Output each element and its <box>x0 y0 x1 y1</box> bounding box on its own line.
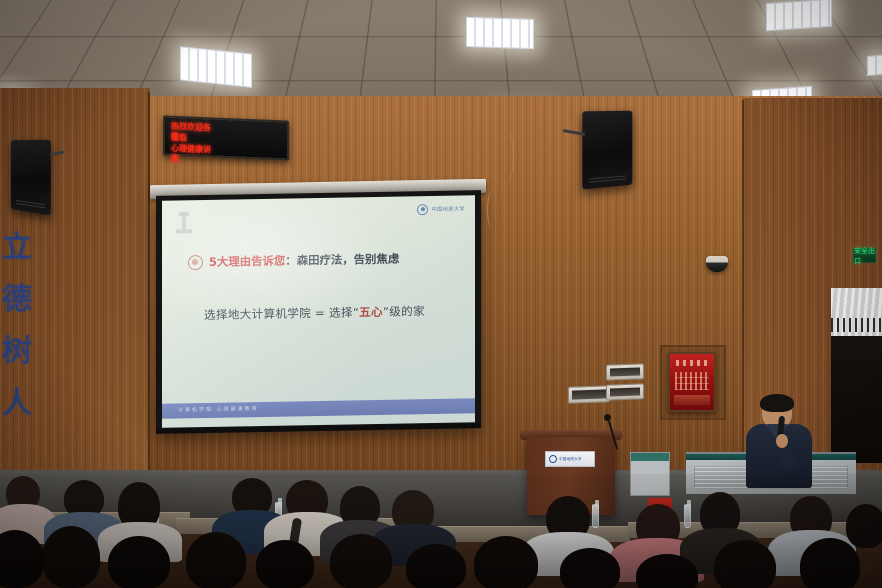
wall-calligraphy: 立德树人 <box>0 222 38 430</box>
av-wall-panel-3[interactable] <box>606 383 644 400</box>
led-scrolling-sign: 热烈欢迎各位 莅临 心理健康讲座 <box>163 115 289 160</box>
slide-canvas: 中国地质大学 5大理由告诉您：森田疗法，告别焦虑 选择地大计算机学院 = 选择“… <box>162 195 475 427</box>
presenter-hand <box>776 434 788 448</box>
lamp-decoration-icon <box>176 212 192 234</box>
slide-title-highlight-middle: 告诉您 <box>251 254 285 269</box>
audience-shadow-overlay <box>0 474 882 588</box>
wall-seam-left <box>148 92 150 518</box>
red-poster <box>668 352 716 412</box>
slide-subtitle-pre: 选择地大计算机学院 = 选择“ <box>204 305 359 322</box>
university-logo: 中国地质大学 <box>417 203 465 215</box>
screen-power-cable <box>487 190 499 230</box>
doorway[interactable] <box>828 288 882 463</box>
slide-subtitle-highlight: 五心 <box>359 305 383 319</box>
ceiling-light-9 <box>867 54 882 76</box>
exit-sign-label: 安全出口 <box>854 246 875 266</box>
university-emblem-icon <box>417 204 428 215</box>
podium-emblem-icon <box>549 455 557 463</box>
projector-screen[interactable]: 中国地质大学 5大理由告诉您：森田疗法，告别焦虑 选择地大计算机学院 = 选择“… <box>156 190 481 433</box>
led-sign-line-3: 心理健康讲座 <box>171 144 211 166</box>
wall-speaker-right <box>582 111 632 190</box>
av-wall-panel-2[interactable] <box>606 363 644 380</box>
wall-speaker-left <box>11 140 51 216</box>
slide-title-highlight-prefix: 5大理由 <box>209 254 251 269</box>
av-wall-panel-1[interactable] <box>568 385 610 403</box>
podium-plaque: 中国地质大学 <box>545 451 595 467</box>
exit-sign: 安全出口 <box>853 248 876 263</box>
poster-footer-graphic <box>674 395 710 405</box>
slide-title-rest: ：森田疗法，告别焦虑 <box>285 252 399 268</box>
university-logo-text: 中国地质大学 <box>431 205 465 213</box>
lecture-hall-photo: 立德树人 热烈欢迎各位 莅临 心理健康讲座 中国地质大学 5大理由告诉您：森田疗… <box>0 0 882 588</box>
poster-heading-lines <box>676 360 708 366</box>
slide-bullet-icon <box>188 255 203 270</box>
speaker-cable <box>494 128 514 184</box>
audience <box>0 474 882 588</box>
slide-subtitle: 选择地大计算机学院 = 选择“五心”级的家 <box>204 303 461 323</box>
slide-title: 5大理由告诉您：森田疗法，告别焦虑 <box>209 250 461 270</box>
poster-body-lines <box>675 372 709 390</box>
presenter-hair <box>760 394 794 412</box>
led-sign-line-2: 莅临 <box>171 133 211 145</box>
slide-footer-text: 计算机学院 心理健康教育 <box>178 405 259 413</box>
podium-plaque-text: 中国地质大学 <box>559 457 582 462</box>
ceiling-light-4 <box>466 17 534 49</box>
ceiling-light-6 <box>766 0 832 31</box>
slide-subtitle-post: ”级的家 <box>383 304 425 319</box>
door-grille <box>831 318 882 332</box>
slide-footer-bar: 计算机学院 心理健康教育 <box>162 398 475 418</box>
